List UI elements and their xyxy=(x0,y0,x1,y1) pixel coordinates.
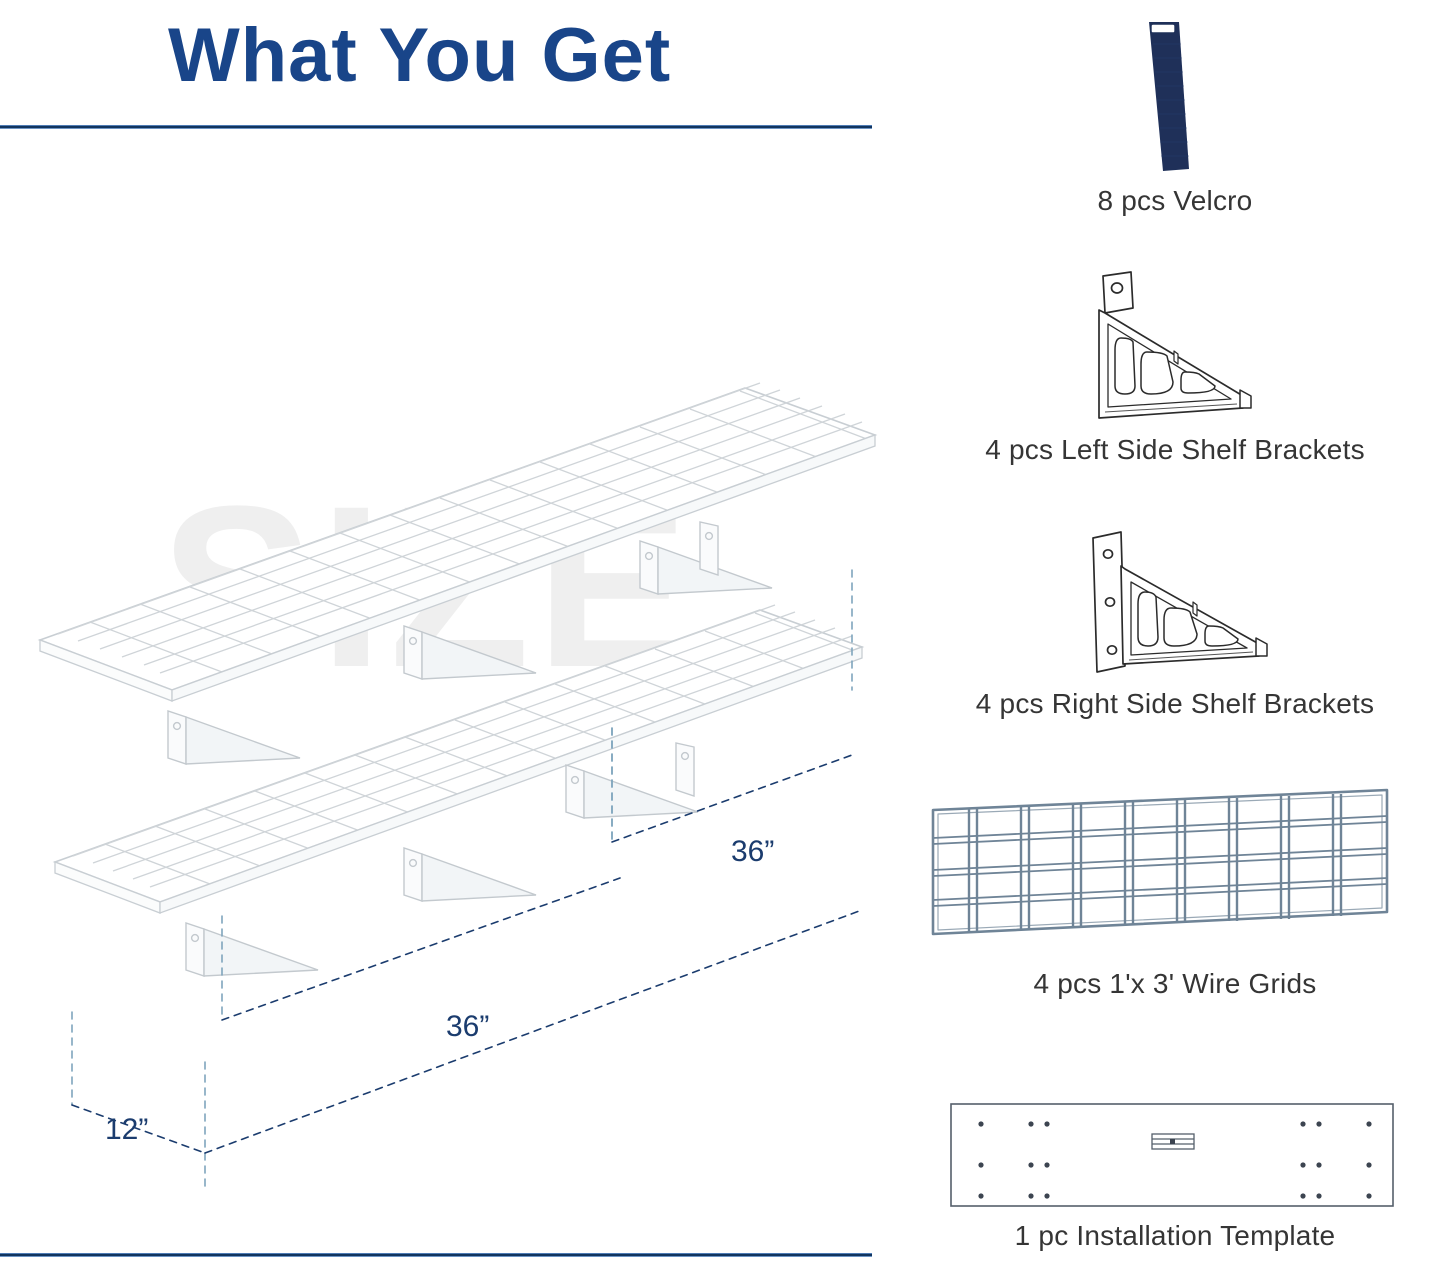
part-figure xyxy=(905,782,1445,962)
part-figure xyxy=(905,522,1445,682)
part-label: 4 pcs 1'x 3' Wire Grids xyxy=(905,968,1445,1000)
part-label: 8 pcs Velcro xyxy=(905,185,1445,217)
part-figure xyxy=(905,14,1445,179)
part-label: 4 pcs Left Side Shelf Brackets xyxy=(905,434,1445,466)
part-figure xyxy=(905,268,1445,428)
part-item-velcro: 8 pcs Velcro xyxy=(905,14,1445,217)
page-title: What You Get xyxy=(168,18,671,94)
product-infographic: What You Get SIZE xyxy=(0,0,1445,1273)
dimension-label-depth: 12” xyxy=(105,1113,148,1147)
size-illustration: SIZE xyxy=(0,150,900,1240)
part-item-right-bracket: 4 pcs Right Side Shelf Brackets xyxy=(905,522,1445,720)
upper-shelf xyxy=(40,383,875,764)
velcro-strap-icon xyxy=(1115,14,1235,179)
part-item-left-bracket: 4 pcs Left Side Shelf Brackets xyxy=(905,268,1445,466)
wire-shelf-drawing xyxy=(0,150,900,1240)
dimension-label-length-upper: 36” xyxy=(731,835,774,869)
footer-divider xyxy=(0,1253,872,1257)
parts-list: 8 pcs Velcro xyxy=(905,0,1445,1273)
left-shelf-bracket-icon xyxy=(1075,268,1275,428)
dimension-label-length-lower: 36” xyxy=(446,1010,489,1044)
part-item-installation-template: 1 pc Installation Template xyxy=(905,1096,1445,1252)
right-shelf-bracket-icon xyxy=(1075,522,1275,682)
part-item-wire-grid: 4 pcs 1'x 3' Wire Grids xyxy=(905,782,1445,1000)
installation-template-icon xyxy=(945,1096,1405,1214)
part-label: 4 pcs Right Side Shelf Brackets xyxy=(905,688,1445,720)
header-divider xyxy=(0,125,872,129)
part-figure xyxy=(905,1096,1445,1214)
wire-grid-icon xyxy=(925,782,1425,962)
part-label: 1 pc Installation Template xyxy=(905,1220,1445,1252)
